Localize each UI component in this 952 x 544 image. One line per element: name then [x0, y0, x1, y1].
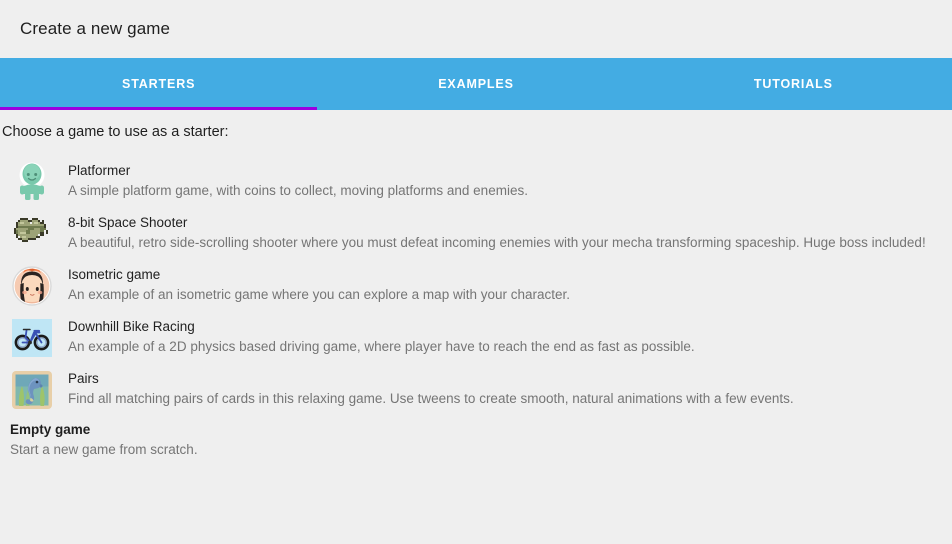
space-shooter-ship-icon — [10, 212, 54, 256]
list-item-text: 8-bit Space Shooter A beautiful, retro s… — [68, 212, 936, 253]
starter-list: Platformer A simple platform game, with … — [0, 156, 952, 416]
list-item-title: Isometric game — [68, 265, 936, 284]
tab-starters-label: STARTERS — [122, 77, 195, 91]
seahorse-card-icon — [10, 368, 54, 412]
tab-bar: STARTERS EXAMPLES TUTORIALS — [0, 58, 952, 110]
empty-game-description: Start a new game from scratch. — [10, 440, 936, 460]
list-item-text: Platformer A simple platform game, with … — [68, 160, 936, 201]
list-item-title: Platformer — [68, 161, 936, 180]
choose-game-label: Choose a game to use as a starter: — [0, 110, 952, 140]
list-item-description: An example of a 2D physics based driving… — [68, 337, 936, 357]
tab-examples[interactable]: EXAMPLES — [317, 58, 634, 110]
list-item-text: Isometric game An example of an isometri… — [68, 264, 936, 305]
page-title: Create a new game — [20, 19, 170, 39]
bicycle-icon — [10, 316, 54, 360]
tab-examples-label: EXAMPLES — [438, 77, 514, 91]
list-item-title: 8-bit Space Shooter — [68, 213, 936, 232]
list-item[interactable]: Platformer A simple platform game, with … — [0, 156, 952, 208]
list-item-text: Pairs Find all matching pairs of cards i… — [68, 368, 936, 409]
list-item-description: A simple platform game, with coins to co… — [68, 181, 936, 201]
empty-game-item[interactable]: Empty game Start a new game from scratch… — [0, 416, 952, 464]
list-item[interactable]: Isometric game An example of an isometri… — [0, 260, 952, 312]
list-item[interactable]: Downhill Bike Racing An example of a 2D … — [0, 312, 952, 364]
list-item-description: A beautiful, retro side-scrolling shoote… — [68, 233, 936, 253]
list-item-description: An example of an isometric game where yo… — [68, 285, 936, 305]
list-item-title: Downhill Bike Racing — [68, 317, 936, 336]
list-item-title: Pairs — [68, 369, 936, 388]
tab-starters[interactable]: STARTERS — [0, 58, 317, 110]
tab-tutorials[interactable]: TUTORIALS — [635, 58, 952, 110]
list-item[interactable]: Pairs Find all matching pairs of cards i… — [0, 364, 952, 416]
tab-tutorials-label: TUTORIALS — [754, 77, 833, 91]
active-tab-indicator — [0, 107, 317, 110]
empty-game-title: Empty game — [10, 420, 936, 439]
platformer-alien-icon — [10, 160, 54, 204]
list-item-text: Downhill Bike Racing An example of a 2D … — [68, 316, 936, 357]
list-item[interactable]: 8-bit Space Shooter A beautiful, retro s… — [0, 208, 952, 260]
starters-panel: Choose a game to use as a starter: — [0, 110, 952, 464]
dialog-header: Create a new game — [0, 0, 952, 58]
list-item-description: Find all matching pairs of cards in this… — [68, 389, 936, 409]
isometric-avatar-icon — [10, 264, 54, 308]
